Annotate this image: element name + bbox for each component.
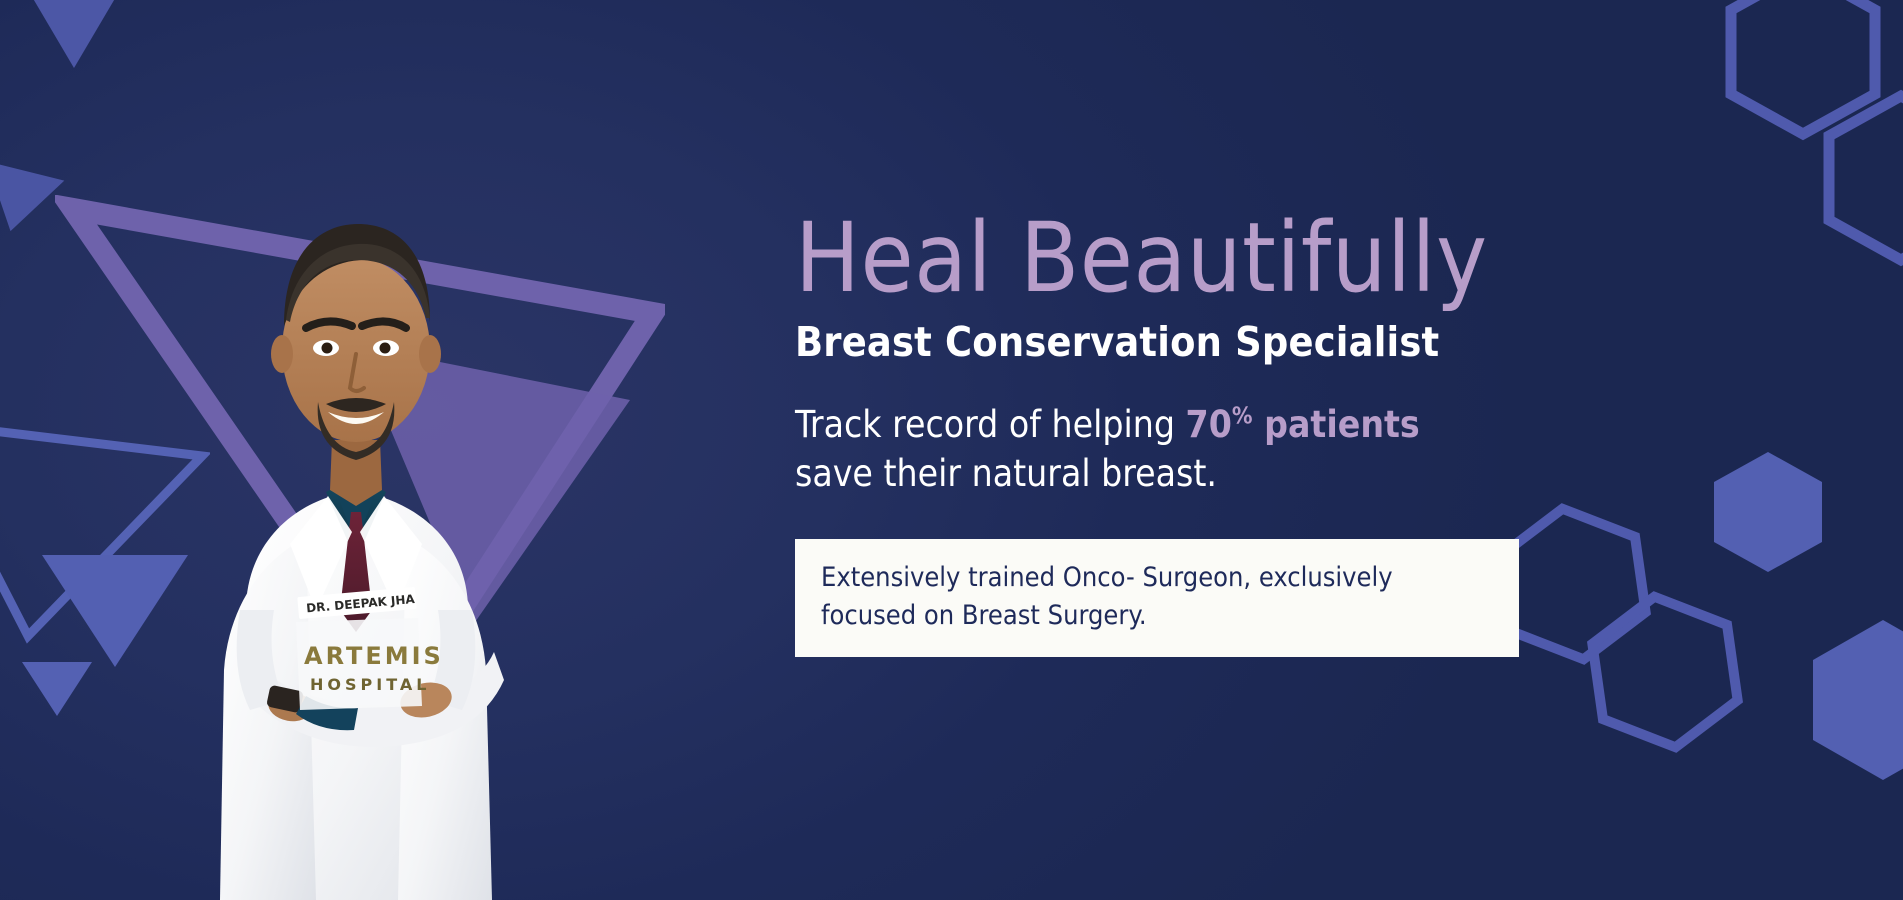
claim-stat-number: 70 — [1186, 403, 1232, 446]
hero-claim: Track record of helping 70% patients sav… — [795, 401, 1615, 499]
coat-hospital-sub-text: HOSPITAL — [310, 675, 430, 694]
coat-hospital-name-text: ARTEMIS — [304, 642, 444, 670]
claim-stat-noun: patients — [1253, 403, 1420, 446]
hero-banner: DR. DEEPAK JHA ARTEMIS HOSPITAL Heal Bea… — [0, 0, 1903, 900]
page-title: Heal Beautifully — [795, 210, 1745, 306]
claim-second-line: save their natural breast. — [795, 452, 1217, 495]
claim-lead-text: Track record of helping — [795, 403, 1186, 446]
hero-callout-box: Extensively trained Onco- Surgeon, exclu… — [795, 539, 1519, 658]
doctor-photo: DR. DEEPAK JHA ARTEMIS HOSPITAL — [120, 140, 590, 900]
hero-copy: Heal Beautifully Breast Conservation Spe… — [795, 210, 1745, 657]
hero-subtitle: Breast Conservation Specialist — [795, 320, 1745, 365]
triangle-filled-top-left-icon — [28, 0, 120, 68]
triangle-filled-upper-left-icon — [0, 161, 64, 241]
claim-stat-unit: % — [1232, 404, 1253, 430]
triangle-filled-bottom-left-icon — [22, 662, 92, 716]
